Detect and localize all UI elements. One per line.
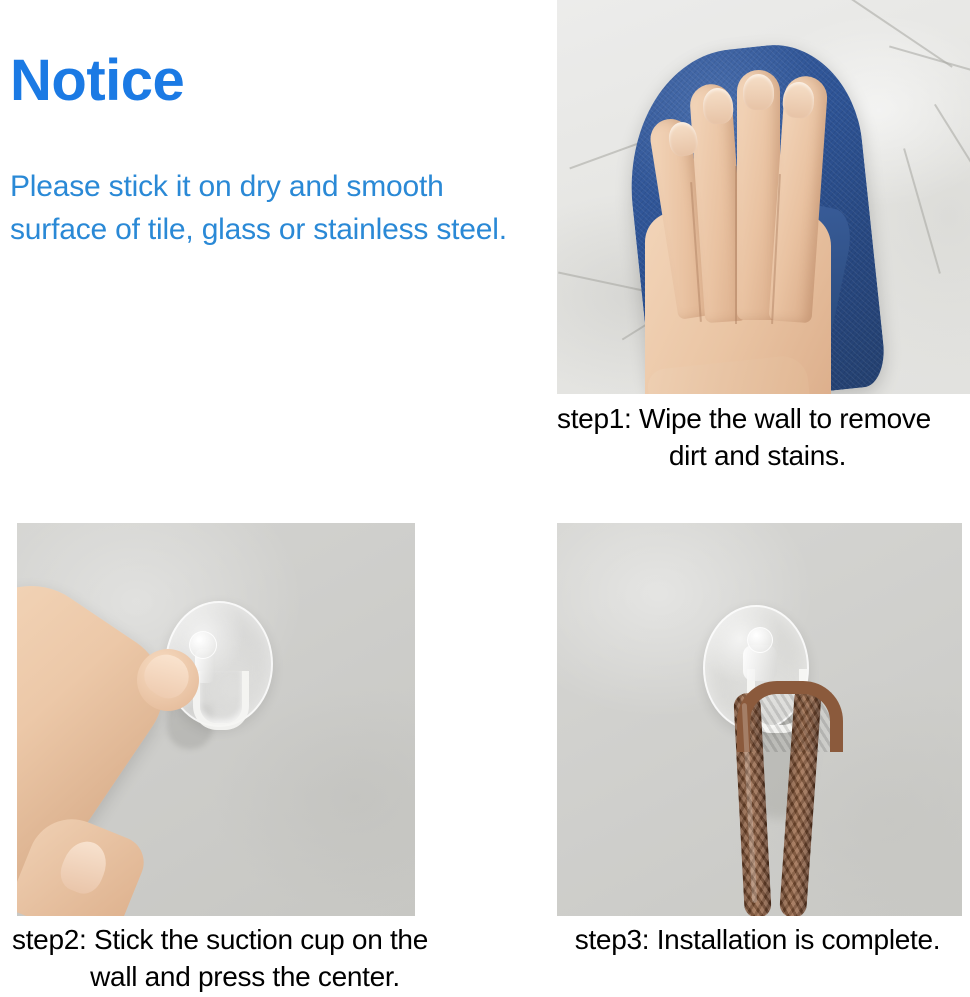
fingernail (743, 74, 774, 110)
cup-nub (189, 631, 217, 659)
step2-caption-line-1: step2: Stick the suction cup on the (0, 921, 490, 958)
step3-caption-line-1: step3: Installation is complete. (545, 921, 970, 958)
cup-nub (747, 627, 773, 653)
leather-cord-loop (737, 681, 843, 752)
step1-caption-line-1: step1: Wipe the wall to remove (545, 400, 970, 437)
step1-photo (557, 0, 970, 394)
step3-caption: step3: Installation is complete. (545, 921, 970, 958)
wall-crack (903, 148, 941, 274)
knuckle-line (735, 166, 737, 324)
wall-crack (934, 104, 970, 198)
step2-caption-line-2: wall and press the center. (0, 958, 490, 995)
step1-caption-line-2: dirt and stains. (545, 437, 970, 474)
fingernail (702, 87, 734, 125)
notice-body: Please stick it on dry and smooth surfac… (10, 166, 530, 252)
hand (639, 62, 827, 394)
step1-caption: step1: Wipe the wall to remove dirt and … (545, 400, 970, 474)
step2-photo (17, 523, 415, 916)
notice-body-line-2: surface of tile, glass or stainless stee… (10, 209, 530, 252)
step2-caption: step2: Stick the suction cup on the wall… (0, 921, 490, 995)
page-title: Notice (10, 52, 530, 110)
notice-block: Notice Please stick it on dry and smooth… (10, 52, 530, 252)
step3-photo (557, 523, 962, 916)
notice-body-line-1: Please stick it on dry and smooth (10, 166, 530, 209)
